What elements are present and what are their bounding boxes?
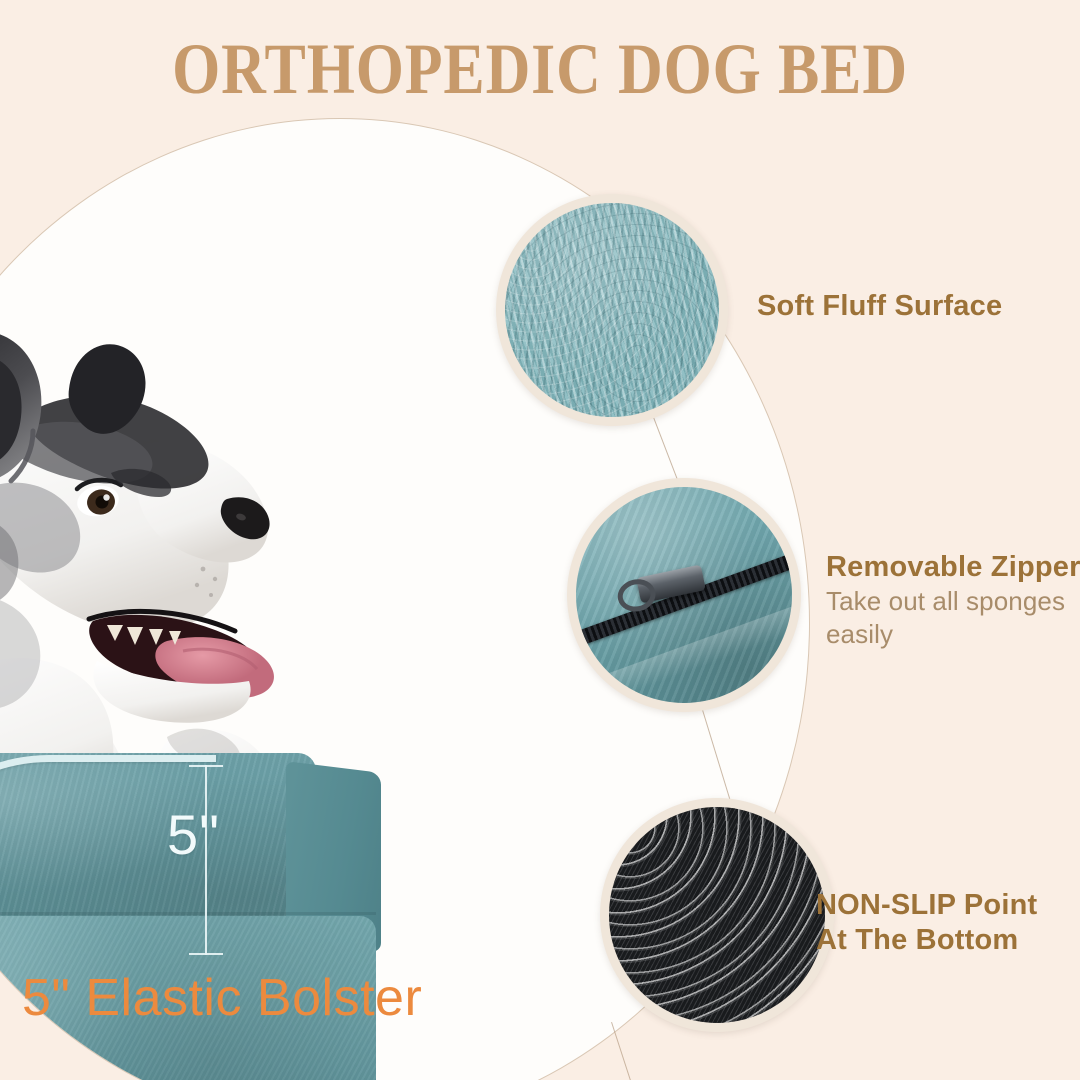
infographic-canvas: ORTHOPEDIC DOG BED bbox=[0, 0, 1080, 1080]
dimension-cap-bottom bbox=[189, 953, 223, 955]
bed-seam-line bbox=[0, 912, 376, 915]
feature-label-soft-fluff: Soft Fluff Surface bbox=[757, 289, 1002, 324]
feature-heading: Removable Zipper bbox=[826, 550, 1080, 585]
fluff-texture-swatch bbox=[505, 203, 719, 417]
callout-removable-zipper[interactable] bbox=[567, 478, 801, 712]
zipper-closeup-swatch bbox=[576, 487, 792, 703]
feature-heading-line2: At The Bottom bbox=[816, 923, 1037, 958]
feature-label-non-slip: NON-SLIP Point At The Bottom bbox=[816, 888, 1037, 959]
feature-label-removable-zipper: Removable Zipper Take out all sponges ea… bbox=[826, 550, 1080, 650]
callout-soft-fluff-surface[interactable] bbox=[496, 194, 728, 426]
bolster-caption: 5" Elastic Bolster bbox=[22, 972, 422, 1024]
non-slip-dots-swatch bbox=[609, 807, 825, 1023]
callout-non-slip-bottom[interactable] bbox=[600, 798, 834, 1032]
feature-heading-line1: NON-SLIP Point bbox=[816, 888, 1037, 923]
feature-subtext: Take out all sponges easily bbox=[826, 585, 1080, 650]
feature-heading: Soft Fluff Surface bbox=[757, 289, 1002, 324]
dimension-label: 5" bbox=[167, 807, 220, 863]
page-title: ORTHOPEDIC DOG BED bbox=[76, 33, 1005, 105]
